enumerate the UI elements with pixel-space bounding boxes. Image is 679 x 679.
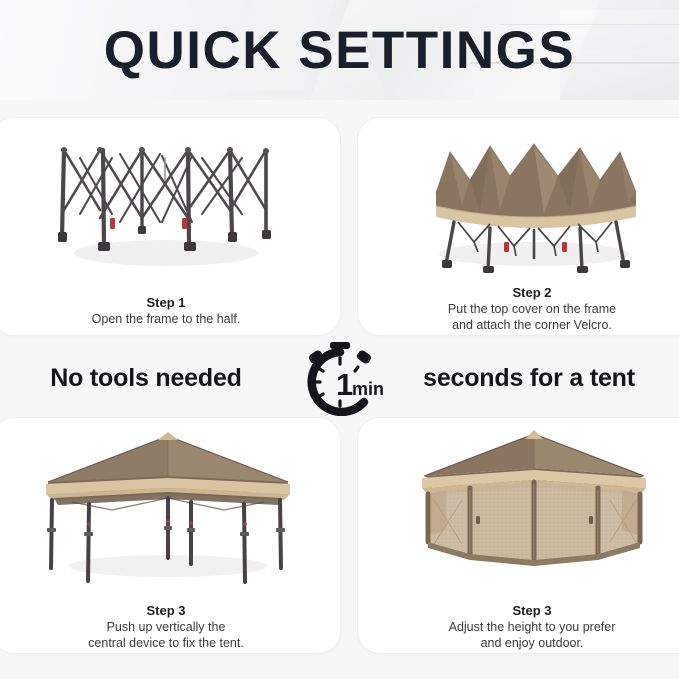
step-label: Step 3 [358,602,679,619]
stopwatch-icon: 1 min [292,340,388,416]
gazebo-canopy-draped-figure [358,118,679,273]
card-step-3-push: Step 3 Push up vertically the central de… [0,418,340,653]
page-title: QUICK SETTINGS [0,0,679,100]
card-caption: Step 3 Push up vertically the central de… [0,602,340,651]
step-description: Open the frame to the half. [0,311,340,327]
card-caption: Step 2 Put the top cover on the frame an… [358,284,679,333]
step-description-line-1: Put the top cover on the frame [358,301,679,317]
header-banner: QUICK SETTINGS [0,0,679,100]
infographic-page: QUICK SETTINGS [0,0,679,679]
timer-unit-text: min [352,379,384,399]
card-caption: Step 3 Adjust the height to you prefer a… [358,602,679,651]
step-description-line-2: and attach the corner Velcro. [358,317,679,333]
step-label: Step 2 [358,284,679,301]
banner-left-text: No tools needed [22,340,270,416]
timer-value-text: 1 [336,367,353,402]
gazebo-with-mesh-netting-figure [358,418,679,591]
card-step-3-adjust: Step 3 Adjust the height to you prefer a… [358,418,679,653]
step-description-line-2: and enjoy outdoor. [358,635,679,651]
card-step-1: Step 1 Open the frame to the half. [0,118,340,335]
step-label: Step 1 [0,294,340,311]
gazebo-frame-half-open-figure [0,118,340,273]
step-description-line-2: central device to fix the tent. [0,635,340,651]
step-label: Step 3 [0,602,340,619]
step-description-line-1: Adjust the height to you prefer [358,619,679,635]
banner-right-text: seconds for a tent [393,340,665,416]
card-caption: Step 1 Open the frame to the half. [0,294,340,327]
step-description-line-1: Push up vertically the [0,619,340,635]
card-step-2: Step 2 Put the top cover on the frame an… [358,118,679,335]
gazebo-erected-open-figure [0,418,340,591]
